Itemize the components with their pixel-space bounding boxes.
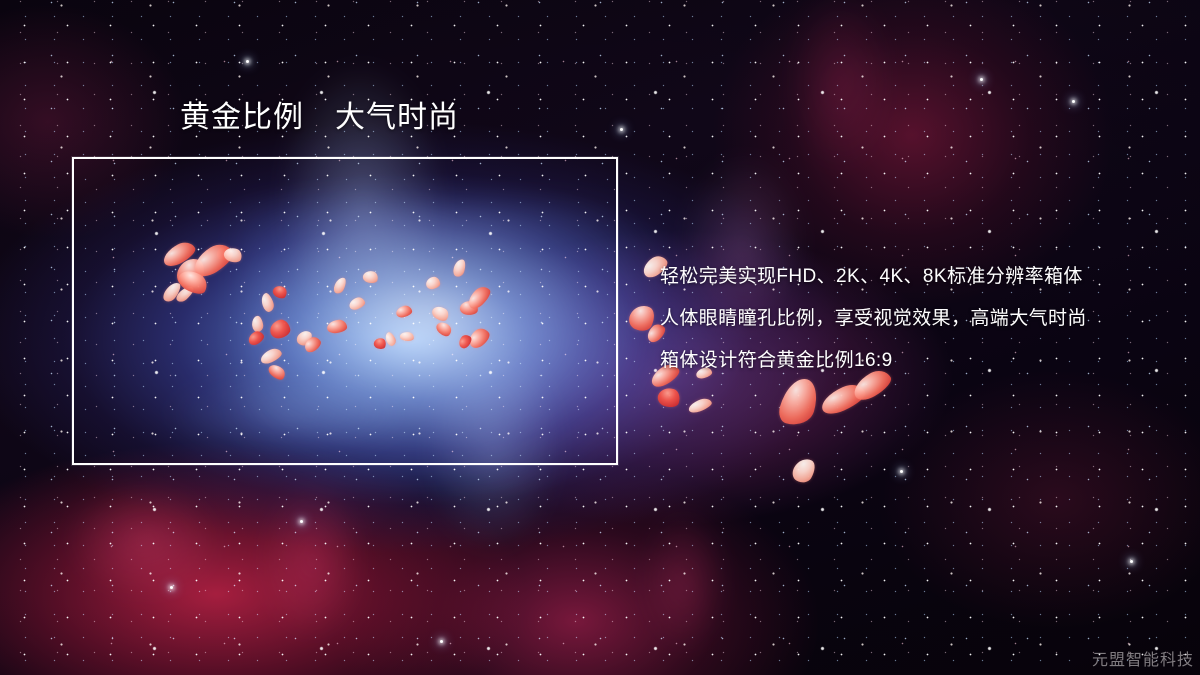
description-line-1: 轻松完美实现FHD、2K、4K、8K标准分辨率箱体 [660, 256, 1180, 298]
bright-star [1130, 560, 1133, 563]
bright-star [1072, 100, 1075, 103]
bright-star [620, 128, 623, 131]
feature-description: 轻松完美实现FHD、2K、4K、8K标准分辨率箱体 人体眼睛瞳孔比例，享受视觉效… [660, 256, 1180, 382]
description-line-2: 人体眼睛瞳孔比例，享受视觉效果，高端大气时尚 [660, 298, 1180, 340]
bright-star [300, 520, 303, 523]
nebula-preview-frame [72, 157, 618, 465]
panel-artwork [72, 157, 618, 465]
bright-star [170, 586, 173, 589]
bright-star [440, 640, 443, 643]
description-line-3: 箱体设计符合黄金比例16:9 [660, 340, 1180, 382]
watermark: 元盟智能科技 [1092, 646, 1194, 670]
presentation-slide: 黄金比例 大气时尚 轻松完美实现FHD、2K、4K、8K标准分辨率箱体 人体眼睛… [0, 0, 1200, 675]
bright-star [246, 60, 249, 63]
bright-star [900, 470, 903, 473]
page-title: 黄金比例 大气时尚 [180, 101, 459, 135]
bright-star [980, 78, 983, 81]
